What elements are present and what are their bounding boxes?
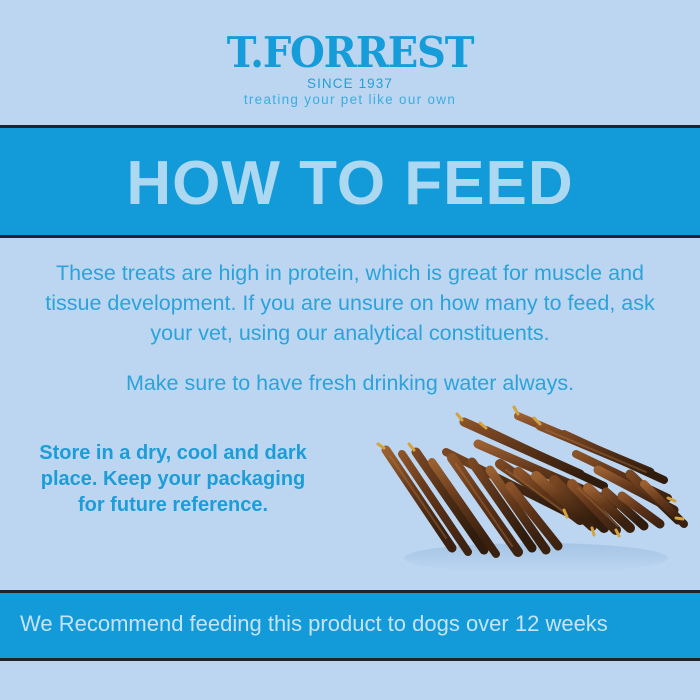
feeding-instructions-paragraph: These treats are high in protein, which … — [30, 258, 670, 348]
footer-banner: We Recommend feeding this product to dog… — [0, 590, 700, 661]
brand-tagline: treating your pet like our own — [0, 92, 700, 108]
feeding-recommendation: We Recommend feeding this product to dog… — [20, 609, 690, 639]
poster-root: T.FORREST SINCE 1937 treating your pet l… — [0, 0, 700, 700]
brand-since-label: SINCE 1937 — [0, 76, 700, 91]
treat-stick-group — [378, 407, 684, 554]
brand-header: T.FORREST SINCE 1937 treating your pet l… — [0, 0, 700, 125]
water-reminder-paragraph: Make sure to have fresh drinking water a… — [30, 368, 670, 398]
product-photo — [368, 400, 688, 585]
page-title: HOW TO FEED — [0, 150, 700, 218]
storage-note: Store in a dry, cool and dark place. Kee… — [38, 440, 308, 518]
brand-logo: T.FORREST — [0, 30, 700, 77]
treat-sticks-illustration — [368, 400, 688, 585]
title-banner: HOW TO FEED — [0, 125, 700, 238]
